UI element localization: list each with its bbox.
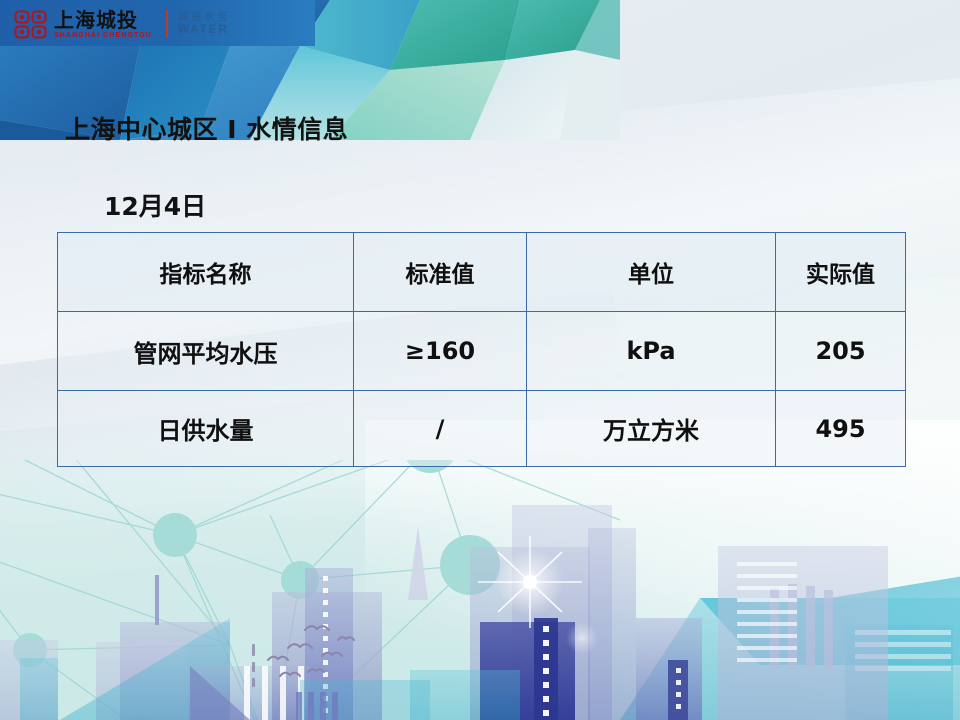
brand-sub-en: WATER [178,23,230,36]
cell-actual: 495 [776,391,906,467]
slide-canvas: 上海城投 SHANGHAI CHENGTOU 城投水务 WATER 上海中心城区… [0,0,960,720]
brand-name-cn: 上海城投 [54,10,152,30]
report-date: 12月4日 [104,187,206,223]
logo-divider [166,10,168,38]
column-header-standard: 标准值 [354,233,527,312]
table-row: 日供水量 / 万立方米 495 [58,391,906,467]
column-header-indicator: 指标名称 [58,233,354,312]
cell-indicator: 日供水量 [58,391,354,467]
cell-standard: / [354,391,527,467]
cell-standard: ≥160 [354,312,527,391]
page-title: 上海中心城区 Ⅰ 水情信息 [65,110,348,146]
column-header-actual: 实际值 [776,233,906,312]
column-header-unit: 单位 [527,233,776,312]
brand-logo: 上海城投 SHANGHAI CHENGTOU 城投水务 WATER [14,6,230,42]
table-header-row: 指标名称 标准值 单位 实际值 [58,233,906,312]
water-info-table: 指标名称 标准值 单位 实际值 管网平均水压 ≥160 kPa 205 日供水量… [57,232,906,467]
table-row: 管网平均水压 ≥160 kPa 205 [58,312,906,391]
cell-unit: kPa [527,312,776,391]
cell-unit: 万立方米 [527,391,776,467]
cell-indicator: 管网平均水压 [58,312,354,391]
cell-actual: 205 [776,312,906,391]
brand-name-en: SHANGHAI CHENGTOU [54,32,152,39]
shanghai-chengtou-logo-icon [14,10,47,39]
